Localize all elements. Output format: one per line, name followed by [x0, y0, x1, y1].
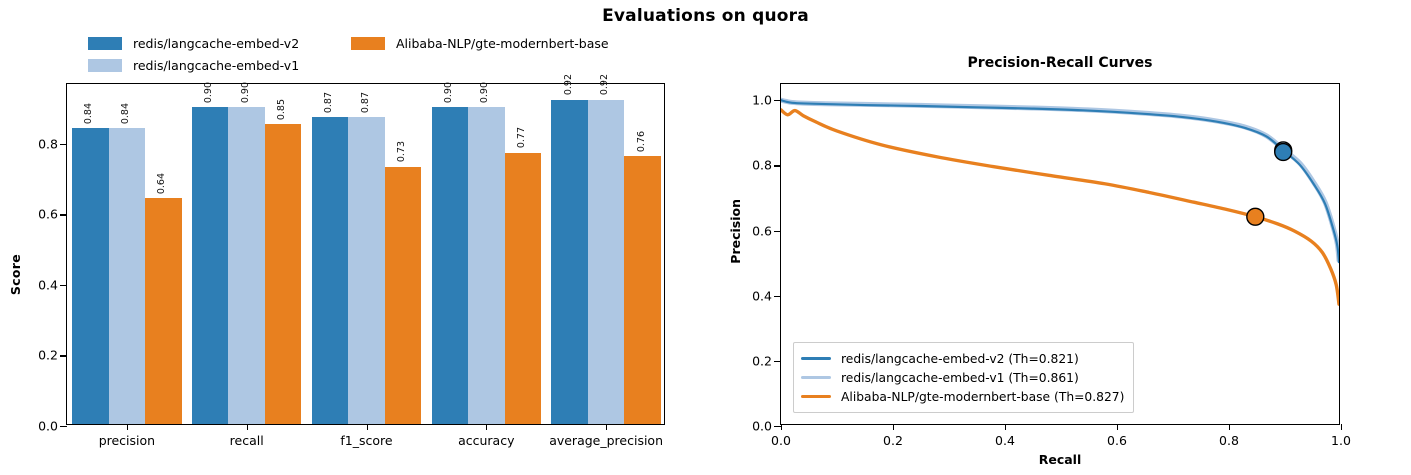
pr-x-axis-label: Recall [780, 452, 1340, 467]
bar-legend-entry[interactable]: Alibaba-NLP/gte-modernbert-base [351, 36, 609, 51]
bar-y-tick-label: 0.8 [38, 136, 58, 151]
legend-line-swatch [801, 376, 831, 379]
bar-chart-panel: redis/langcache-embed-v2redis/langcache-… [0, 0, 700, 475]
pr-x-tick-label: 0.4 [995, 433, 1015, 448]
pr-curve-line [781, 100, 1339, 262]
pr-x-tick-label: 1.0 [1331, 433, 1351, 448]
pr-x-tick [1005, 424, 1006, 430]
bar-plot-area: 0.840.840.640.900.900.850.870.870.730.90… [66, 83, 665, 425]
pr-legend-label: redis/langcache-embed-v2 (Th=0.821) [841, 352, 1079, 366]
bar-y-tick-label: 0.6 [38, 207, 58, 222]
pr-y-tick-label: 0.2 [752, 353, 772, 368]
bar-value-label: 0.92 [564, 74, 574, 95]
pr-legend-entry[interactable]: redis/langcache-embed-v2 (Th=0.821) [801, 349, 1124, 368]
bar-y-tick [60, 355, 67, 356]
pr-chart-legend: redis/langcache-embed-v2 (Th=0.821)redis… [793, 342, 1134, 413]
bar-x-tick [127, 424, 128, 430]
pr-x-tick [1229, 424, 1230, 430]
pr-plot-area: redis/langcache-embed-v2 (Th=0.821)redis… [780, 83, 1340, 425]
bar-legend-entry[interactable]: redis/langcache-embed-v2 [88, 36, 299, 51]
pr-y-tick [774, 426, 781, 427]
pr-x-tick [1117, 424, 1118, 430]
pr-y-tick [774, 231, 781, 232]
bar[interactable] [588, 100, 625, 424]
bar[interactable] [551, 100, 588, 424]
bar-x-tick [367, 424, 368, 430]
bar-x-tick-label: recall [230, 433, 264, 448]
pr-curve-line [781, 100, 1339, 260]
bars-layer: 0.840.840.640.900.900.850.870.870.730.90… [67, 84, 664, 424]
pr-x-tick-label: 0.8 [1219, 433, 1239, 448]
pr-operating-point-marker[interactable] [1247, 208, 1264, 225]
pr-y-tick-label: 0.6 [752, 223, 772, 238]
pr-y-tick [774, 361, 781, 362]
bar-legend-label: redis/langcache-embed-v1 [133, 58, 299, 73]
bar-group: 0.920.920.76 [67, 84, 666, 424]
pr-y-tick-label: 0.4 [752, 288, 772, 303]
legend-color-swatch [351, 37, 385, 50]
bar-x-tick [606, 424, 607, 430]
bar[interactable] [624, 156, 661, 424]
pr-y-tick [774, 165, 781, 166]
legend-color-swatch [88, 59, 122, 72]
pr-x-tick-label: 0.2 [883, 433, 903, 448]
pr-y-tick-label: 0.8 [752, 158, 772, 173]
pr-y-tick-label: 1.0 [752, 93, 772, 108]
legend-color-swatch [88, 37, 122, 50]
bar-chart-legend: redis/langcache-embed-v2redis/langcache-… [88, 36, 678, 80]
pr-operating-point-marker[interactable] [1275, 144, 1292, 161]
pr-x-tick-label: 0.6 [1107, 433, 1127, 448]
pr-curve-panel: Precision-Recall Curves Precision Recall… [700, 0, 1411, 475]
bar-y-tick [60, 285, 67, 286]
pr-legend-entry[interactable]: Alibaba-NLP/gte-modernbert-base (Th=0.82… [801, 387, 1124, 406]
bar-x-tick [486, 424, 487, 430]
bar-x-tick-label: average_precision [549, 433, 663, 448]
pr-legend-label: redis/langcache-embed-v1 (Th=0.861) [841, 371, 1079, 385]
bar-y-tick-label: 0.0 [38, 419, 58, 434]
bar-x-tick-label: precision [99, 433, 155, 448]
pr-x-tick [781, 424, 782, 430]
bar-x-tick-label: accuracy [458, 433, 514, 448]
bar-y-tick-label: 0.4 [38, 277, 58, 292]
bar-y-axis-label: Score [8, 254, 23, 295]
pr-y-tick [774, 296, 781, 297]
bar-y-tick-label: 0.2 [38, 348, 58, 363]
pr-y-axis-label: Precision [728, 199, 743, 264]
pr-x-tick-label: 0.0 [771, 433, 791, 448]
legend-line-swatch [801, 395, 831, 398]
bar-legend-entry[interactable]: redis/langcache-embed-v1 [88, 58, 299, 73]
bar-legend-label: Alibaba-NLP/gte-modernbert-base [396, 36, 609, 51]
bar-x-tick [247, 424, 248, 430]
bar-legend-label: redis/langcache-embed-v2 [133, 36, 299, 51]
pr-chart-title: Precision-Recall Curves [780, 55, 1340, 71]
pr-y-tick-label: 0.0 [752, 419, 772, 434]
pr-curve-line [781, 110, 1339, 304]
legend-line-swatch [801, 357, 831, 360]
pr-x-tick [893, 424, 894, 430]
figure-canvas: Evaluations on quora redis/langcache-emb… [0, 0, 1411, 475]
bar-value-label: 0.92 [600, 74, 610, 95]
bar-value-label: 0.76 [637, 131, 647, 152]
pr-x-tick [1341, 424, 1342, 430]
pr-legend-label: Alibaba-NLP/gte-modernbert-base (Th=0.82… [841, 390, 1124, 404]
pr-y-tick [774, 100, 781, 101]
bar-y-tick [60, 426, 67, 427]
bar-y-tick [60, 144, 67, 145]
bar-x-tick-label: f1_score [340, 433, 392, 448]
bar-y-tick [60, 214, 67, 215]
pr-legend-entry[interactable]: redis/langcache-embed-v1 (Th=0.861) [801, 368, 1124, 387]
